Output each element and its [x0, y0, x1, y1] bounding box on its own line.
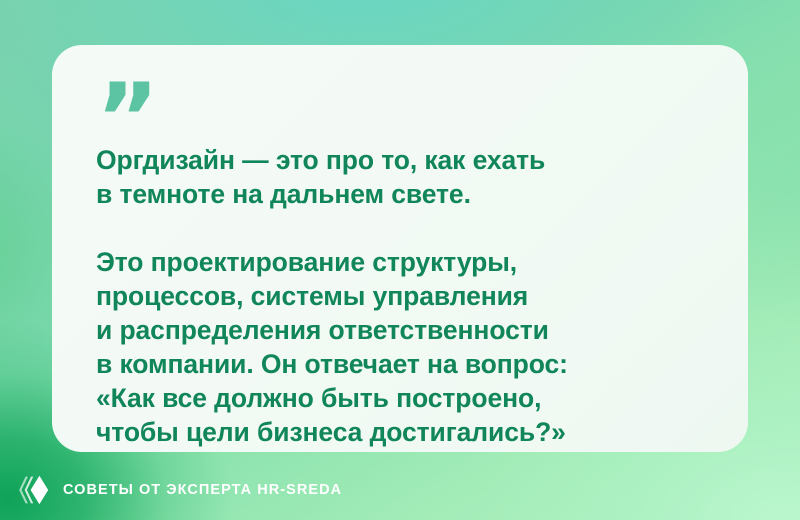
chevron-diamond-logo-icon — [16, 474, 50, 506]
quote-card-graphic: ” Оргдизайн — это про то, как ехать в те… — [0, 0, 800, 520]
quotation-mark-icon: ” — [96, 71, 704, 123]
quote-paragraph-2: Это проектирование структуры, процессов,… — [96, 245, 704, 449]
footer-brand-bar: СОВЕТЫ ОТ ЭКСПЕРТА HR-SREDA — [16, 474, 342, 506]
quote-card: ” Оргдизайн — это про то, как ехать в те… — [52, 45, 748, 452]
footer-caption-text: СОВЕТЫ ОТ ЭКСПЕРТА HR-SREDA — [63, 482, 342, 498]
quote-text-body: Оргдизайн — это про то, как ехать в темн… — [96, 143, 704, 449]
quote-paragraph-1: Оргдизайн — это про то, как ехать в темн… — [96, 143, 704, 211]
